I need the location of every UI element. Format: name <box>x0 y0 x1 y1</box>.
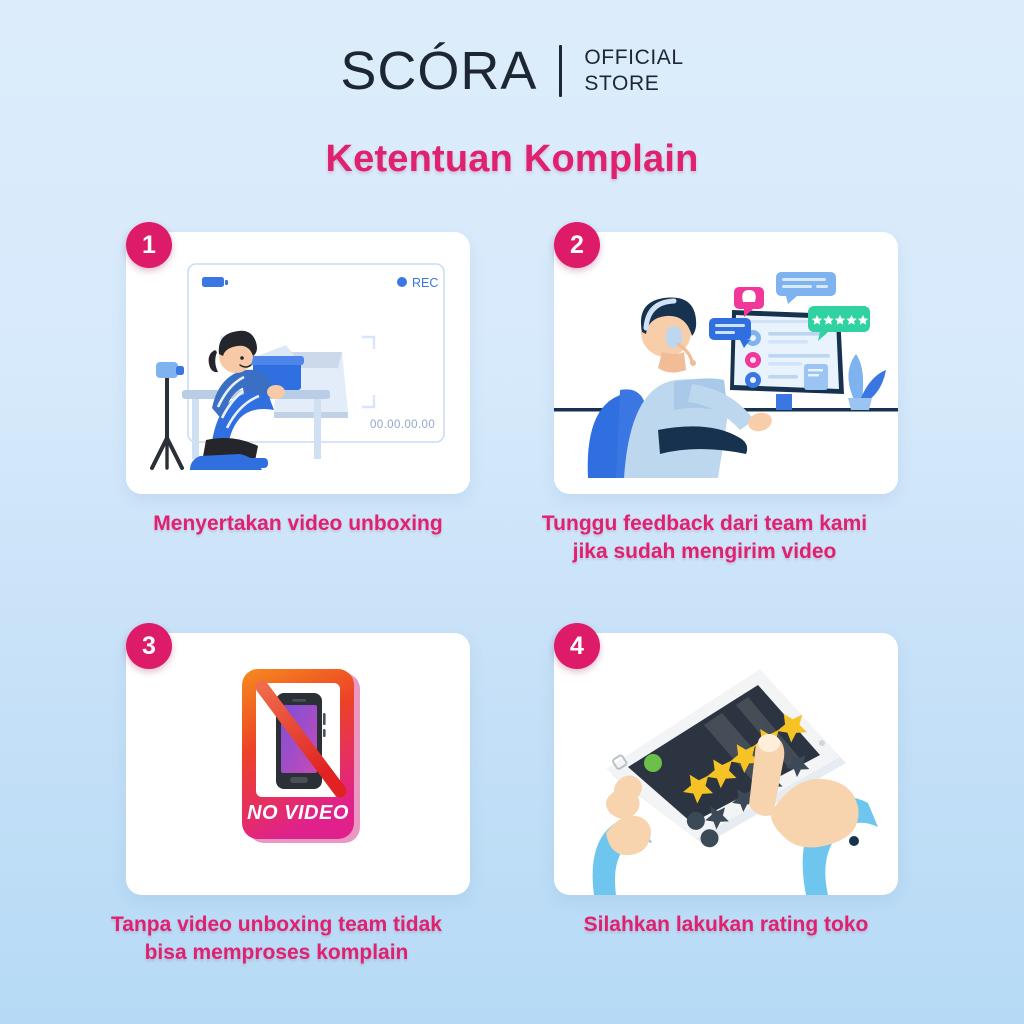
step-2-card-wrap: 2 <box>554 222 898 494</box>
steps-row-2: NO VIDEO 3 Tanpa video unboxing team tid… <box>0 623 1024 966</box>
step-card-1: REC 00.00.00.00 <box>126 222 470 565</box>
green-status-dot <box>644 754 662 772</box>
record-dot-icon <box>397 277 407 287</box>
page-title: Ketentuan Komplain <box>0 138 1024 181</box>
step-1-card-wrap: REC 00.00.00.00 <box>126 222 470 494</box>
step-3-caption-line2: bisa memproses komplain <box>62 939 492 967</box>
illustration-support-agent <box>554 232 898 494</box>
brand-logo-text: SCÓRA <box>340 44 537 98</box>
step-1-badge: 1 <box>126 222 172 268</box>
poster-root: SCÓRA OFFICIAL STORE Ketentuan Komplain <box>0 0 1024 1024</box>
step-3-caption: Tanpa video unboxing team tidak bisa mem… <box>62 911 492 966</box>
step-2-caption-line2: jika sudah mengirim video <box>490 538 920 566</box>
step-4-card-wrap: RATE YOUR EXPERIENCE <box>554 623 898 895</box>
step-1-caption: Menyertakan video unboxing <box>153 510 442 538</box>
steps-grid: REC 00.00.00.00 <box>0 222 1024 967</box>
illustration-no-video-sign: NO VIDEO <box>126 633 470 895</box>
step-card-3: NO VIDEO 3 Tanpa video unboxing team tid… <box>126 623 470 966</box>
step-2-caption: Tunggu feedback dari team kami jika suda… <box>490 510 920 565</box>
sleeve-button <box>849 836 859 846</box>
brand-subtitle: OFFICIAL STORE <box>584 45 683 96</box>
rec-label: REC <box>412 276 438 290</box>
step-2-card <box>554 232 898 494</box>
step-card-2: 2 Tunggu feedback dari team kami jika su… <box>554 222 898 565</box>
brand-divider <box>559 45 562 97</box>
step-4-caption: Silahkan lakukan rating toko <box>584 911 869 939</box>
brand-header: SCÓRA OFFICIAL STORE <box>0 44 1024 98</box>
step-4-card: RATE YOUR EXPERIENCE <box>554 633 898 895</box>
brand-subtitle-line1: OFFICIAL <box>584 45 683 71</box>
brand-subtitle-line2: STORE <box>584 71 683 97</box>
step-3-card-wrap: NO VIDEO 3 <box>126 623 470 895</box>
step-2-badge: 2 <box>554 222 600 268</box>
step-2-caption-line1: Tunggu feedback dari team kami <box>490 510 920 538</box>
step-3-caption-line1: Tanpa video unboxing team tidak <box>62 911 492 939</box>
illustration-woman-unboxing: REC 00.00.00.00 <box>126 232 470 494</box>
illustration-tablet-rating: RATE YOUR EXPERIENCE <box>554 633 898 895</box>
no-video-label: NO VIDEO <box>247 802 349 824</box>
step-card-4: RATE YOUR EXPERIENCE <box>554 623 898 966</box>
step-1-card: REC 00.00.00.00 <box>126 232 470 494</box>
step-3-card: NO VIDEO <box>126 633 470 895</box>
steps-row-1: REC 00.00.00.00 <box>0 222 1024 565</box>
timecode-label: 00.00.00.00 <box>370 419 435 431</box>
